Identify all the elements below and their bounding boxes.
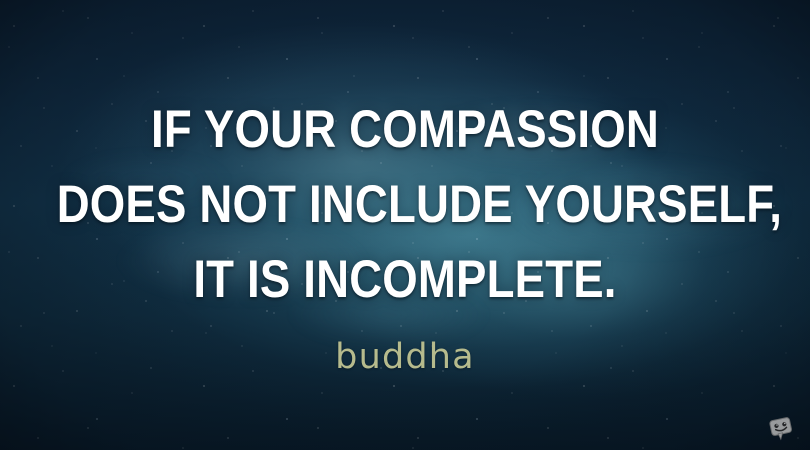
attribution-block: buddha [0, 336, 810, 378]
quote-card: IF YOUR COMPASSION DOES NOT INCLUDE YOUR… [0, 0, 810, 450]
quote-text-block: IF YOUR COMPASSION DOES NOT INCLUDE YOUR… [0, 92, 810, 317]
speech-bubble-face-icon [766, 414, 796, 444]
quote-line-2: DOES NOT INCLUDE YOURSELF, [57, 167, 754, 242]
quote-author: buddha [335, 337, 475, 377]
quote-line-1: IF YOUR COMPASSION [57, 92, 754, 167]
quote-line-3: IT IS INCOMPLETE. [57, 242, 754, 317]
